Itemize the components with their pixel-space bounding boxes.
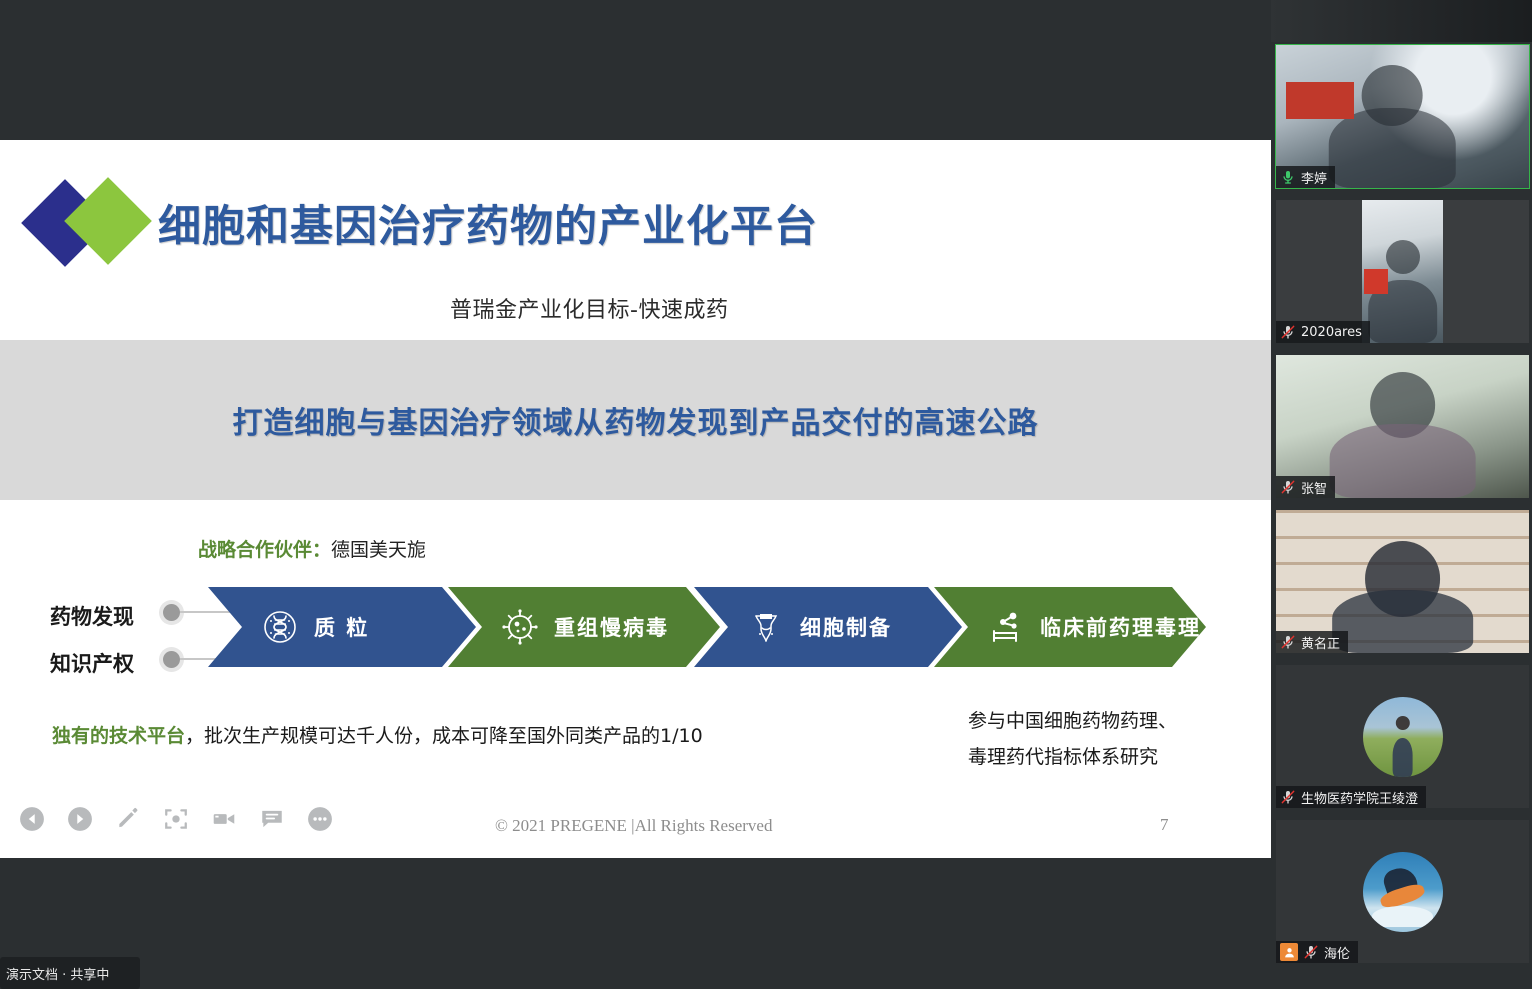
spotlight-button[interactable] [160,803,192,835]
mic-unmuted-icon [1280,169,1296,185]
technology-platform-note-strong: 独有的技术平台 [52,725,185,747]
participant-name: 李婷 [1301,168,1327,187]
participant-name: 张智 [1301,478,1327,497]
chat-button[interactable] [256,803,288,835]
molecule-bed-icon [986,607,1026,647]
participant-tile[interactable]: 生物医药学院王绫澄 [1276,665,1529,808]
flow-step-preclinical: 临床前药理毒理 [934,587,1206,667]
mic-muted-icon [1280,634,1296,650]
page-title: 细胞和基因治疗药物的产业化平台 [158,192,818,254]
dna-icon [260,607,300,647]
avatar [1363,697,1443,777]
slide-title-block: 细胞和基因治疗药物的产业化平台 普瑞金产业化目标-快速成药 [0,140,1271,340]
participant-tile[interactable]: 海伦 [1276,820,1529,963]
footer-copyright: © 2021 PREGENE |All Rights Reserved [495,816,772,836]
mic-muted-icon [1280,789,1296,805]
mic-muted-icon [1303,944,1319,960]
flow-step-label: 重组慢病毒 [554,612,669,642]
strategic-partner-line: 战略合作伙伴：德国美天旎 [198,535,426,562]
filmstrip-topbar [1271,0,1532,42]
participant-tile[interactable]: 李婷 [1276,45,1529,188]
pregene-logo-icon [32,180,154,266]
strategic-partner-value: 德国美天旎 [331,539,426,561]
flow-step-label: 临床前药理毒理 [1040,612,1201,642]
participant-tile[interactable]: 2020ares [1276,200,1529,343]
presentation-slide[interactable]: 细胞和基因治疗药物的产业化平台 普瑞金产业化目标-快速成药 打造细胞与基因治疗领… [0,140,1271,858]
participant-name: 黄名正 [1301,633,1340,652]
cell-flask-icon [746,607,786,647]
banner-text: 打造细胞与基因治疗领域从药物发现到产品交付的高速公路 [233,398,1039,442]
participant-name: 生物医药学院王绫澄 [1301,788,1418,807]
status-tooltip: 演示文档 · 共享中 [0,957,140,989]
input-label-drug-discovery: 药物发现 [50,601,134,631]
participant-name-chip: 海伦 [1276,941,1358,963]
virus-icon [500,607,540,647]
more-options-button[interactable] [304,803,336,835]
flow-step-label: 质 粒 [314,612,369,642]
participant-name-chip: 生物医药学院王绫澄 [1276,786,1426,808]
previous-slide-button[interactable] [16,803,48,835]
host-badge-icon [1280,943,1298,961]
technology-platform-note: 独有的技术平台，批次生产规模可达千人份，成本可降至国外同类产品的1/10 [52,721,703,748]
participant-name: 2020ares [1301,325,1362,340]
slide-control-toolbar [16,803,336,835]
status-tooltip-text: 演示文档 · 共享中 [0,957,140,983]
highlight-banner: 打造细胞与基因治疗领域从药物发现到产品交付的高速公路 [0,340,1271,500]
participant-name-chip: 2020ares [1276,321,1370,343]
flow-step-cell-preparation: 细胞制备 [694,587,962,667]
annotate-button[interactable] [112,803,144,835]
next-slide-button[interactable] [64,803,96,835]
participant-tile[interactable]: 黄名正 [1276,510,1529,653]
technology-platform-note-rest: ，批次生产规模可达千人份，成本可降至国外同类产品的1/10 [185,725,703,747]
participant-name-chip: 李婷 [1276,166,1335,188]
participant-name-chip: 黄名正 [1276,631,1348,653]
participant-tile[interactable]: 张智 [1276,355,1529,498]
flow-step-label: 细胞制备 [800,612,892,642]
mic-muted-icon [1280,479,1296,495]
preclinical-note: 参与中国细胞药物药理、 毒理药代指标体系研究 [968,703,1177,775]
connector-dot [163,651,180,668]
record-button[interactable] [208,803,240,835]
flow-step-plasmid: 质 粒 [208,587,476,667]
mic-muted-icon [1280,324,1296,340]
participant-name-chip: 张智 [1276,476,1335,498]
strategic-partner-label: 战略合作伙伴： [198,539,331,561]
avatar [1363,852,1443,932]
preclinical-note-line: 参与中国细胞药物药理、 [968,703,1177,739]
zoom-meeting-window: 细胞和基因治疗药物的产业化平台 普瑞金产业化目标-快速成药 打造细胞与基因治疗领… [0,0,1532,989]
slide-subtitle: 普瑞金产业化目标-快速成药 [450,292,728,324]
flow-step-lentivirus: 重组慢病毒 [448,587,720,667]
participant-filmstrip[interactable]: 李婷 2020ares [1271,0,1532,989]
participant-name: 海伦 [1324,943,1350,962]
shared-screen-area: 细胞和基因治疗药物的产业化平台 普瑞金产业化目标-快速成药 打造细胞与基因治疗领… [0,0,1271,989]
page-number: 7 [1160,815,1169,835]
connector-dot [163,604,180,621]
input-label-ip: 知识产权 [50,648,134,678]
preclinical-note-line: 毒理药代指标体系研究 [968,739,1177,775]
